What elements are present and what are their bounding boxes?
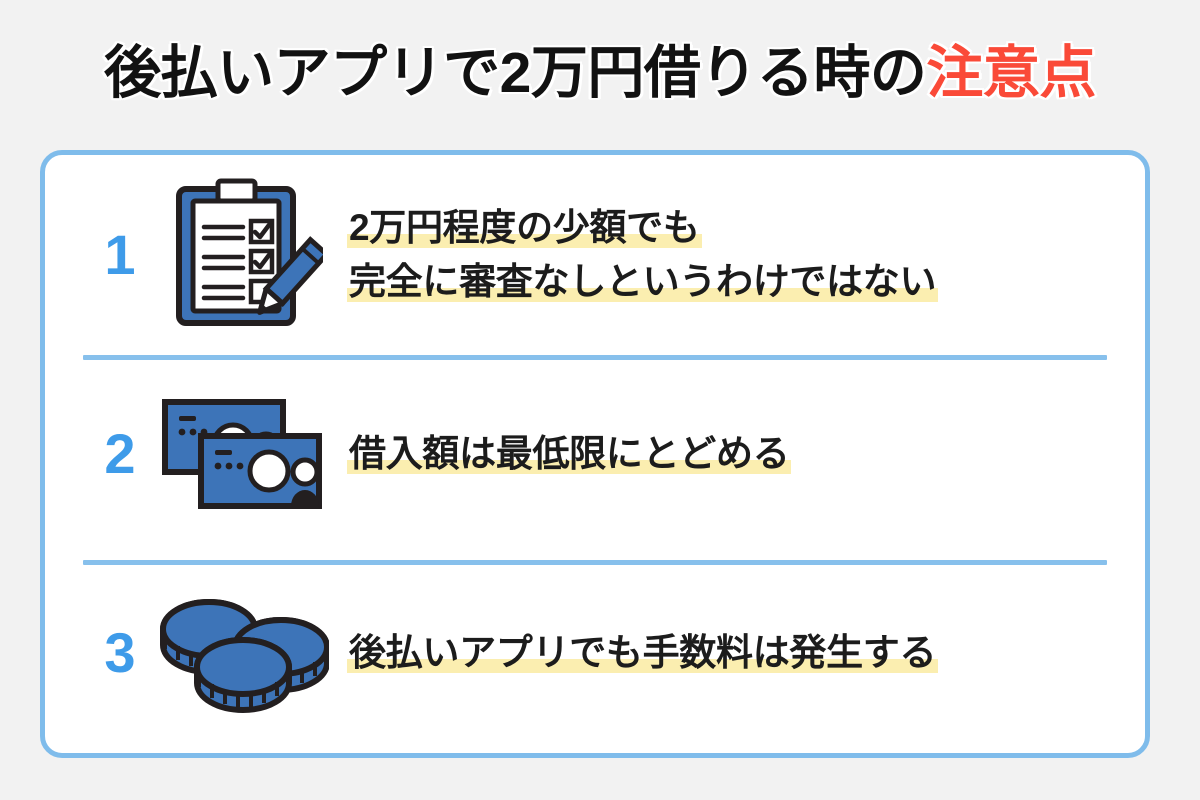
title-main: 後払いアプリで2万円借りる時の: [104, 41, 926, 105]
list-item: 1: [45, 155, 1145, 354]
item-text-line: 後払いアプリでも手数料は発生する: [347, 626, 1119, 680]
item-text-line: 2万円程度の少額でも: [347, 201, 1119, 255]
list-item: 2: [45, 354, 1145, 553]
item-number: 1: [87, 227, 153, 283]
item-text: 後払いアプリでも手数料は発生する: [333, 626, 1119, 680]
title-text: 後払いアプリで2万円借りる時の注意点: [104, 45, 1096, 102]
item-text-line: 借入額は最低限にとどめる: [347, 427, 1119, 481]
banknotes-icon: [153, 371, 333, 536]
item-text: 2万円程度の少額でも 完全に審査なしというわけではない: [333, 201, 1119, 309]
coins-icon: [153, 571, 333, 736]
item-number: 3: [87, 625, 153, 681]
item-text: 借入額は最低限にとどめる: [333, 427, 1119, 481]
list-item: 3: [45, 554, 1145, 753]
item-text-line: 完全に審査なしというわけではない: [347, 255, 1119, 309]
item-number: 2: [87, 426, 153, 482]
notes-card: 1: [40, 150, 1150, 758]
notes-list: 1: [45, 155, 1145, 753]
clipboard-checklist-pencil-icon: [153, 172, 333, 337]
page-title: 後払いアプリで2万円借りる時の注意点: [0, 32, 1200, 114]
title-accent: 注意点: [926, 41, 1096, 105]
